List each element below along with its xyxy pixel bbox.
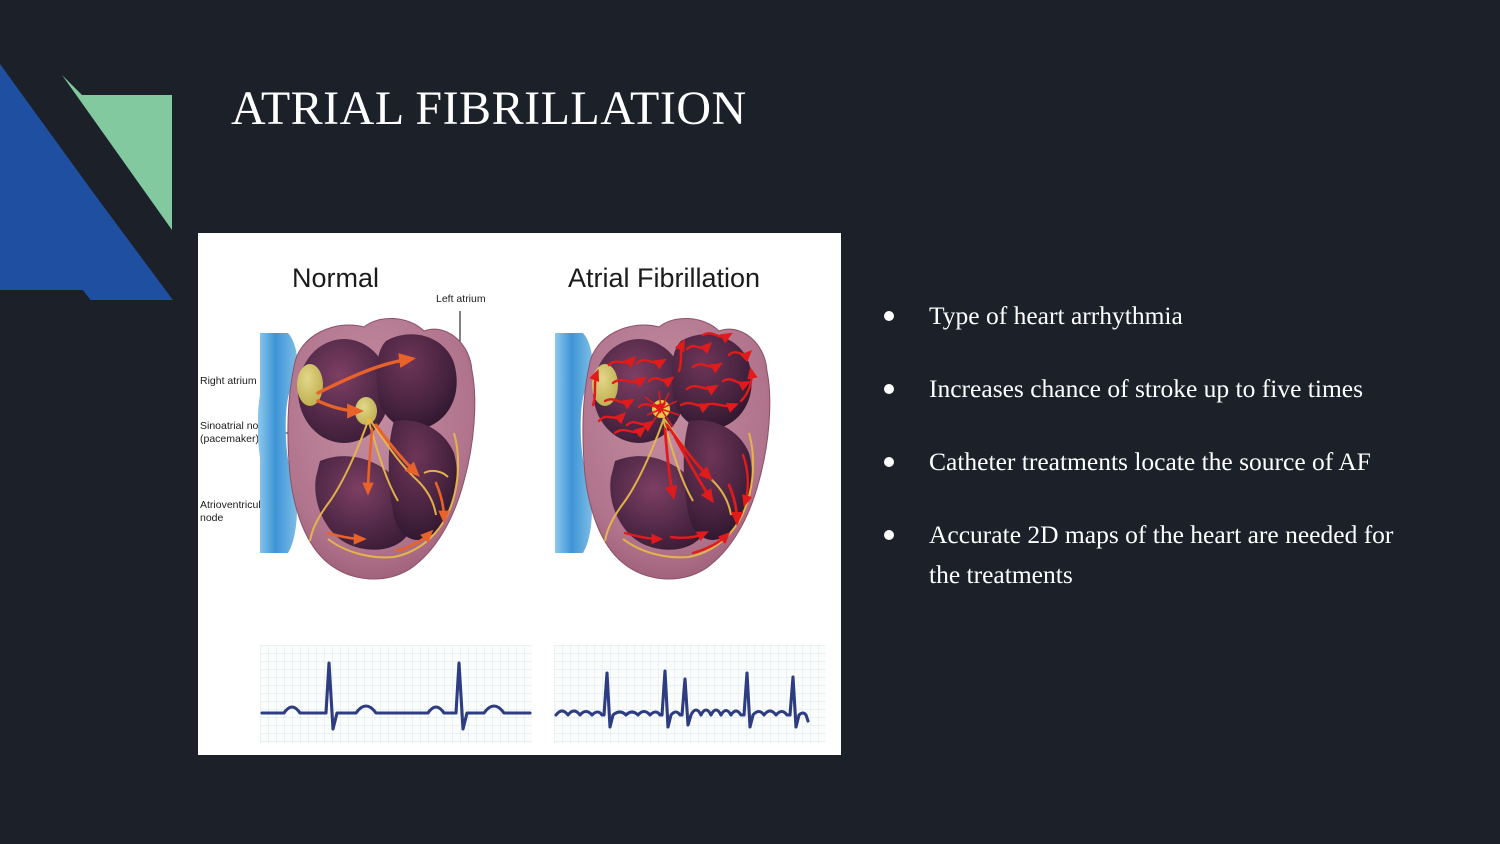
blue-parallelogram [0,64,210,300]
green-parallelogram [62,75,172,230]
bullet-text: Accurate 2D maps of the heart are needed… [929,515,1404,595]
bullet-dot-icon [884,457,894,467]
list-item: Type of heart arrhythmia [884,296,1404,336]
bullet-text: Increases chance of stroke up to five ti… [929,369,1404,409]
bullet-dot-icon [884,530,894,540]
bullet-dot-icon [884,311,894,321]
list-item: Increases chance of stroke up to five ti… [884,369,1404,409]
bullet-dot-icon [884,384,894,394]
heart-cross-section-atrial-fibrillation [553,305,803,605]
list-item: Accurate 2D maps of the heart are needed… [884,515,1404,595]
bullet-text: Catheter treatments locate the source of… [929,442,1404,482]
page-title: ATRIAL FIBRILLATION [231,83,747,136]
ecg-strip-normal [260,645,532,743]
ecg-strip-atrial-fibrillation [554,645,826,743]
blue-parallelogram-shape [0,64,130,300]
heart-diagram-panel: Normal Atrial Fibrillation Left atrium R… [198,233,841,755]
list-item: Catheter treatments locate the source of… [884,442,1404,482]
slide: ATRIAL FIBRILLATION Normal Atrial Fibril… [0,0,1500,844]
heart-cross-section-normal [258,305,508,605]
bullet-text: Type of heart arrhythmia [929,296,1404,336]
bullet-list: Type of heart arrhythmia Increases chanc… [884,296,1404,628]
